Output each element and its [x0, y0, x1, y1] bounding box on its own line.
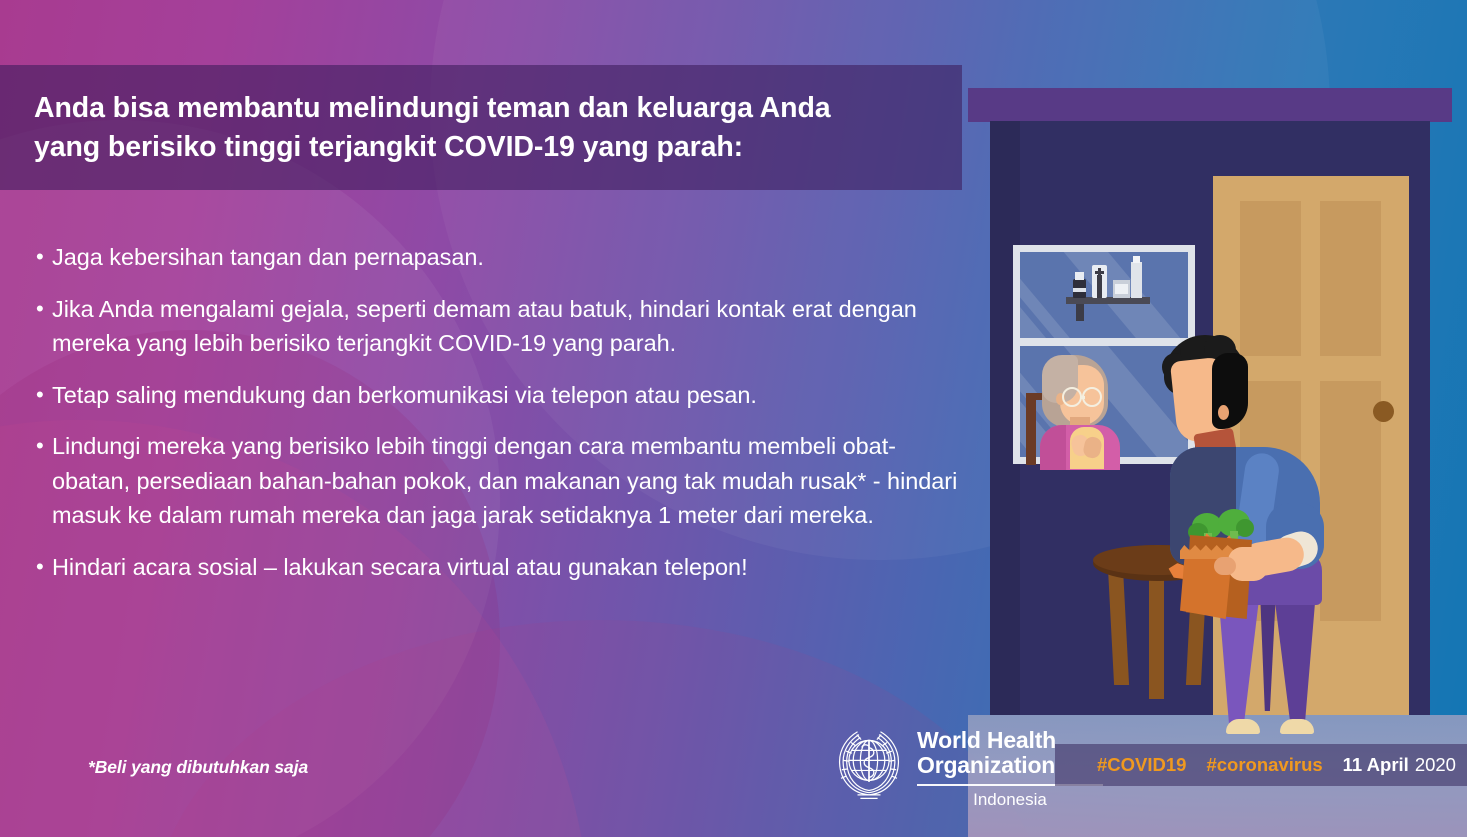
man-shoe [1280, 719, 1314, 734]
publication-date: 11 April [1343, 754, 1409, 776]
man-shoe [1226, 719, 1260, 734]
hashtag-coronavirus[interactable]: #coronavirus [1206, 754, 1322, 776]
bullet-marker-icon: • [28, 240, 52, 274]
hashtag-covid19[interactable]: #COVID19 [1097, 754, 1186, 776]
medical-cross-icon [1095, 271, 1104, 274]
advice-list: • Jaga kebersihan tangan dan pernapasan.… [28, 240, 973, 601]
stool-leg [1108, 567, 1129, 685]
hashtag-date-bar: #COVID19 #coronavirus 11 April 2020 [1055, 744, 1467, 786]
medicine-shelf-shape [1066, 297, 1150, 304]
medicine-tube-stripe [1097, 275, 1102, 298]
who-emblem-icon [833, 726, 905, 802]
man-hair-side [1212, 353, 1248, 429]
medicine-bottle-label [1073, 288, 1086, 292]
list-item-text: Jaga kebersihan tangan dan pernapasan. [52, 240, 973, 275]
list-item: • Jika Anda mengalami gejala, seperti de… [28, 292, 973, 361]
eyeglasses-icon [1082, 387, 1102, 407]
man-leg-right [1270, 591, 1316, 723]
chair-shape [1026, 393, 1036, 465]
medicine-container-icon [1131, 262, 1142, 298]
bullet-marker-icon: • [28, 378, 52, 412]
list-item-text: Hindari acara sosial – lakukan secara vi… [52, 550, 973, 585]
man-fingers [1214, 557, 1236, 575]
list-item: • Tetap saling mendukung dan berkomunika… [28, 378, 973, 413]
page-title-line-2: yang berisiko tinggi terjangkit COVID-19… [34, 131, 743, 163]
bullet-marker-icon: • [28, 429, 52, 463]
awning-shape [968, 88, 1452, 122]
publication-year: 2020 [1415, 754, 1456, 776]
heading-panel: Anda bisa membantu melindungi teman dan … [0, 65, 962, 190]
elderly-woman-figure [1026, 355, 1146, 465]
shelf-bracket-shape [1076, 304, 1084, 321]
list-item-text: Jika Anda mengalami gejala, seperti dema… [52, 292, 973, 361]
who-country-label: Indonesia [917, 790, 1103, 810]
door-panel [1320, 201, 1381, 356]
list-item-text: Lindungi mereka yang berisiko lebih ting… [52, 429, 973, 533]
eyeglasses-bridge [1081, 396, 1085, 399]
medicine-container-cap [1133, 256, 1140, 263]
poster-canvas: Anda bisa membantu melindungi teman dan … [0, 0, 1467, 837]
woman-cardigan-shadow [1040, 425, 1066, 470]
list-item-text: Tetap saling mendukung dan berkomunikasi… [52, 378, 973, 413]
medicine-bottle-cap [1075, 272, 1084, 280]
eyeglasses-icon [1062, 387, 1082, 407]
broccoli-icon [1236, 519, 1254, 537]
list-item: • Jaga kebersihan tangan dan pernapasan. [28, 240, 973, 275]
bullet-marker-icon: • [28, 550, 52, 584]
man-ear [1218, 405, 1229, 420]
delivery-man-figure [1156, 335, 1396, 735]
footnote-text: *Beli yang dibutuhkan saja [88, 757, 308, 778]
list-item: • Hindari acara sosial – lakukan secara … [28, 550, 973, 585]
pill-blister-shape [1115, 284, 1128, 294]
page-title-line-1: Anda bisa membantu melindungi teman dan … [34, 92, 831, 124]
page-title: Anda bisa membantu melindungi teman dan … [0, 89, 849, 166]
bullet-marker-icon: • [28, 292, 52, 326]
list-item: • Lindungi mereka yang berisiko lebih ti… [28, 429, 973, 533]
illustration-home-delivery [968, 0, 1467, 837]
door-panel [1240, 201, 1301, 356]
